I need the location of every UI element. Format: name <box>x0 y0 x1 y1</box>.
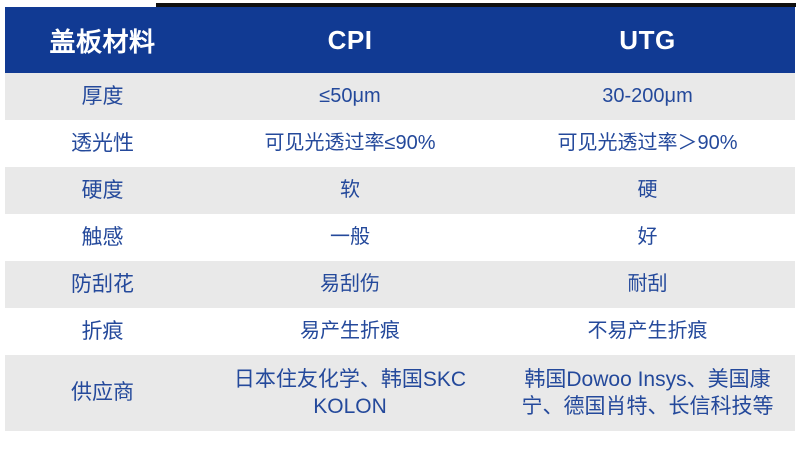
row-value-utg: 耐刮 <box>500 261 795 308</box>
table-row: 折痕 易产生折痕 不易产生折痕 <box>5 308 795 355</box>
row-value-utg: 可见光透过率＞90% <box>500 120 795 167</box>
row-attribute-label: 透光性 <box>5 120 200 167</box>
row-value-utg: 好 <box>500 214 795 261</box>
row-value-utg: 30-200μm <box>500 73 795 120</box>
row-value-cpi: 一般 <box>200 214 500 261</box>
table-row: 透光性 可见光透过率≤90% 可见光透过率＞90% <box>5 120 795 167</box>
row-attribute-label: 折痕 <box>5 308 200 355</box>
column-header-attribute: 盖板材料 <box>5 7 200 73</box>
row-value-cpi: 软 <box>200 167 500 214</box>
table-body: 厚度 ≤50μm 30-200μm 透光性 可见光透过率≤90% 可见光透过率＞… <box>5 73 795 431</box>
row-attribute-label: 厚度 <box>5 73 200 120</box>
row-value-cpi: 日本住友化学、韩国SKC KOLON <box>200 355 500 431</box>
cover-material-comparison-table: 盖板材料 CPI UTG 厚度 ≤50μm 30-200μm 透光性 可见光透过… <box>5 7 795 431</box>
row-attribute-label: 防刮花 <box>5 261 200 308</box>
row-value-utg: 不易产生折痕 <box>500 308 795 355</box>
row-value-cpi: ≤50μm <box>200 73 500 120</box>
row-attribute-label: 硬度 <box>5 167 200 214</box>
row-value-cpi: 易刮伤 <box>200 261 500 308</box>
comparison-table-container: 盖板材料 CPI UTG 厚度 ≤50μm 30-200μm 透光性 可见光透过… <box>0 0 800 453</box>
table-header: 盖板材料 CPI UTG <box>5 7 795 73</box>
column-header-utg: UTG <box>500 7 795 73</box>
table-row: 硬度 软 硬 <box>5 167 795 214</box>
column-header-cpi: CPI <box>200 7 500 73</box>
row-value-cpi: 易产生折痕 <box>200 308 500 355</box>
row-value-utg: 韩国Dowoo Insys、美国康宁、德国肖特、长信科技等 <box>500 355 795 431</box>
row-value-cpi: 可见光透过率≤90% <box>200 120 500 167</box>
row-value-utg: 硬 <box>500 167 795 214</box>
table-row: 供应商 日本住友化学、韩国SKC KOLON 韩国Dowoo Insys、美国康… <box>5 355 795 431</box>
row-attribute-label: 供应商 <box>5 355 200 431</box>
row-attribute-label: 触感 <box>5 214 200 261</box>
header-row: 盖板材料 CPI UTG <box>5 7 795 73</box>
table-row: 厚度 ≤50μm 30-200μm <box>5 73 795 120</box>
table-row: 防刮花 易刮伤 耐刮 <box>5 261 795 308</box>
table-row: 触感 一般 好 <box>5 214 795 261</box>
